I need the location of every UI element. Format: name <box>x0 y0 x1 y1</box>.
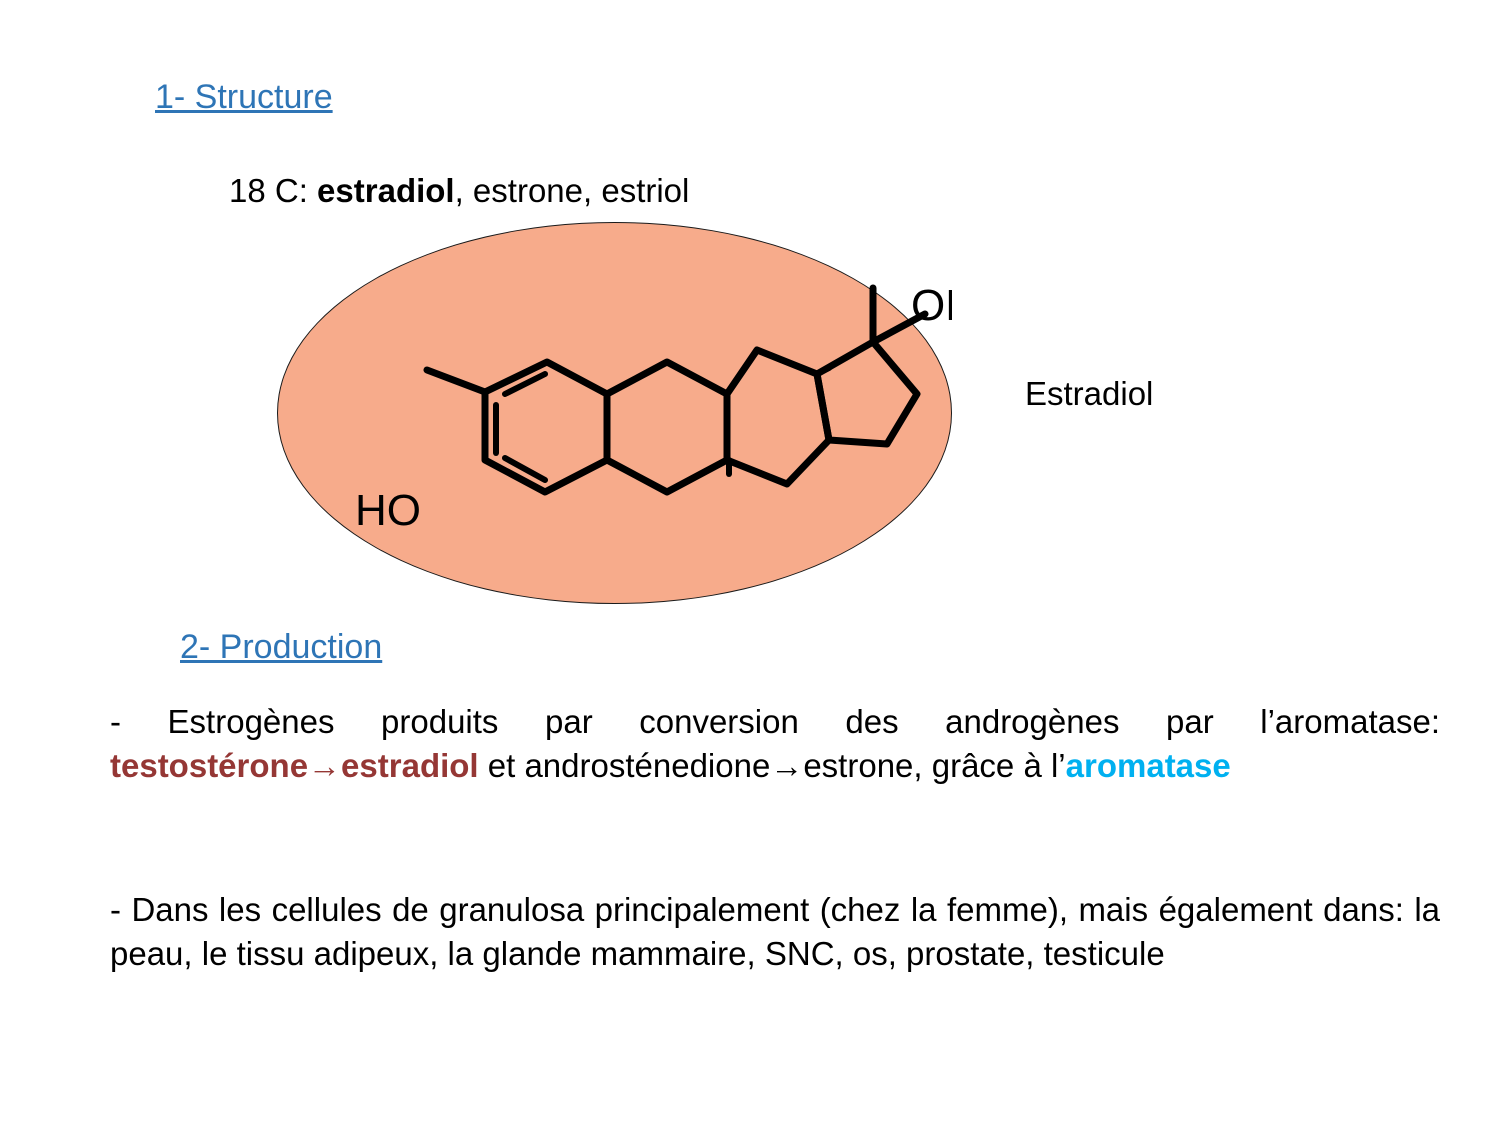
molecule-side-label: Estradiol <box>1025 375 1153 413</box>
production-highlight-aromatase: aromatase <box>1066 747 1231 784</box>
molecule-label-oh: OH <box>911 281 952 330</box>
structure-caption-prefix: 18 C: <box>229 172 317 209</box>
molecule-container: OH HO <box>277 222 952 604</box>
production-paragraph-2: - Dans les cellules de granulosa princip… <box>110 888 1440 975</box>
heading-structure: 1- Structure <box>155 78 333 117</box>
production-text-b: et androsténedione→estrone, grâce à l’ <box>479 747 1066 784</box>
production-highlight-testosterone: testostérone→estradiol <box>110 747 479 784</box>
structure-caption: 18 C: estradiol, estrone, estriol <box>229 172 689 210</box>
production-paragraph-1: - Estrogènes produits par conversion des… <box>110 700 1440 787</box>
structure-caption-bold: estradiol <box>317 172 455 209</box>
structure-caption-suffix: , estrone, estriol <box>455 172 690 209</box>
molecule-label-ho: HO <box>355 486 421 535</box>
production-text-a: - Estrogènes produits par conversion des… <box>110 703 1440 740</box>
slide-canvas: 1- Structure 18 C: estradiol, estrone, e… <box>0 0 1500 1125</box>
estradiol-structure-icon: OH HO <box>277 222 952 604</box>
heading-production: 2- Production <box>180 628 382 667</box>
